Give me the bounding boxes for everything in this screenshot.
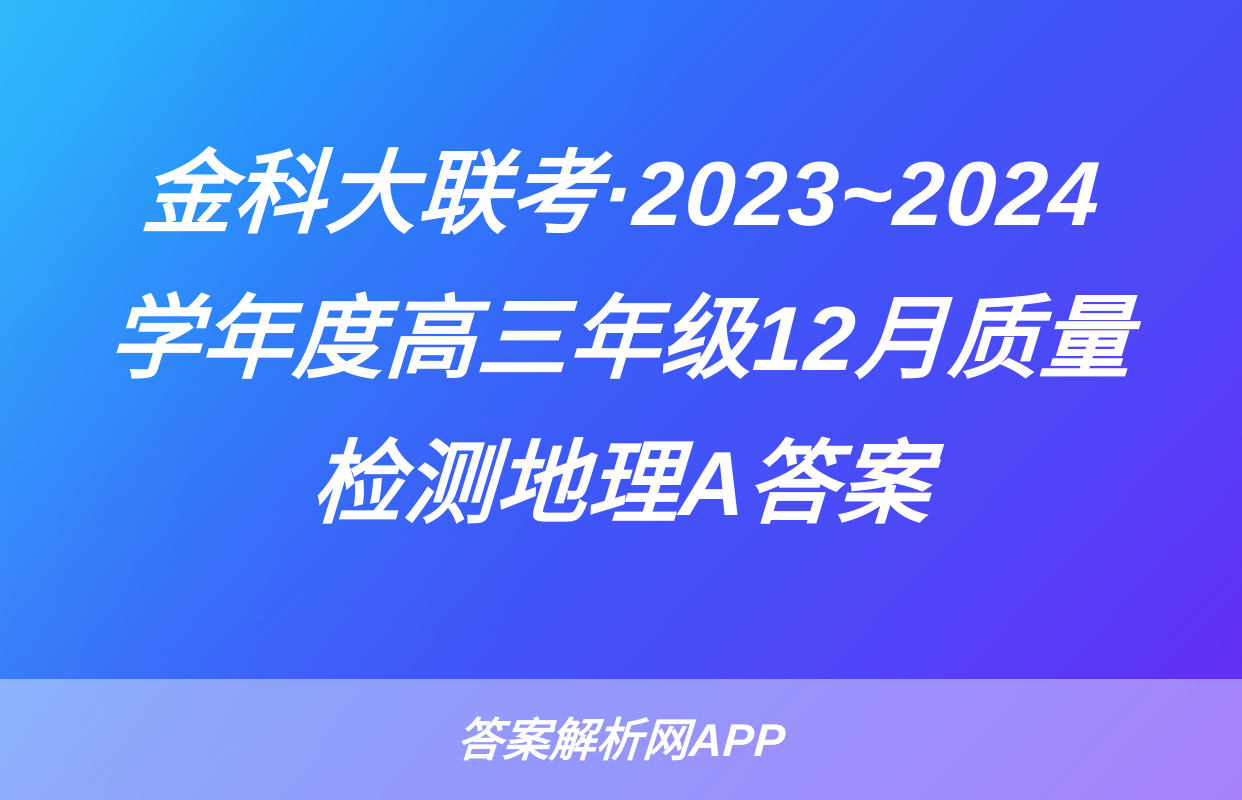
footer-band: 答案解析网APP [0,679,1242,800]
title-block: 金科大联考·2023~2024 学年度高三年级12月质量 检测地理A答案 [0,0,1242,679]
title-line-1: 金科大联考·2023~2024 [138,122,1104,267]
title-line-2: 学年度高三年级12月质量 [106,267,1137,412]
poster-container: 金科大联考·2023~2024 学年度高三年级12月质量 检测地理A答案 答案解… [0,0,1242,800]
title-line-3: 检测地理A答案 [308,412,934,557]
app-watermark-label: 答案解析网APP [455,717,787,763]
